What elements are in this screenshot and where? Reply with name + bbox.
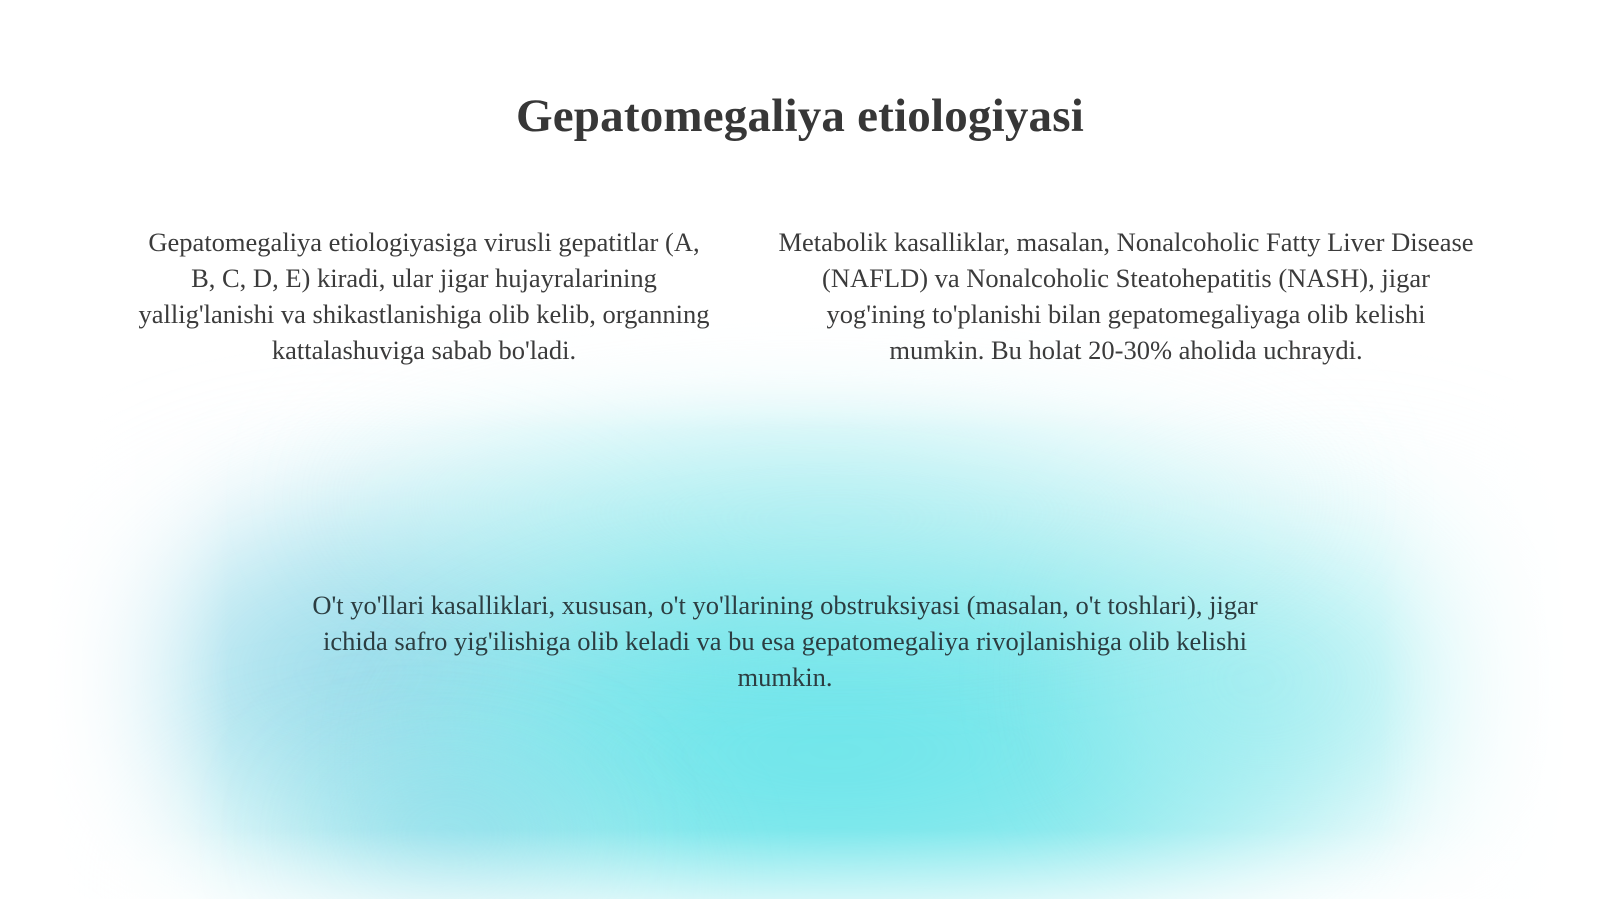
slide-title: Gepatomegaliya etiologiyasi xyxy=(0,89,1600,144)
slide-content: Gepatomegaliya etiologiyasi Gepatomegali… xyxy=(0,0,1600,899)
etiology-text-block-biliary-obstruction: O't yo'llari kasalliklari, xususan, o't … xyxy=(280,587,1290,695)
etiology-text-block-viral-hepatitis: Gepatomegaliya etiologiyasiga virusli ge… xyxy=(138,224,710,368)
slide-canvas: Gepatomegaliya etiologiyasi Gepatomegali… xyxy=(0,0,1600,899)
etiology-text-block-metabolic-disease: Metabolik kasalliklar, masalan, Nonalcoh… xyxy=(778,224,1474,368)
